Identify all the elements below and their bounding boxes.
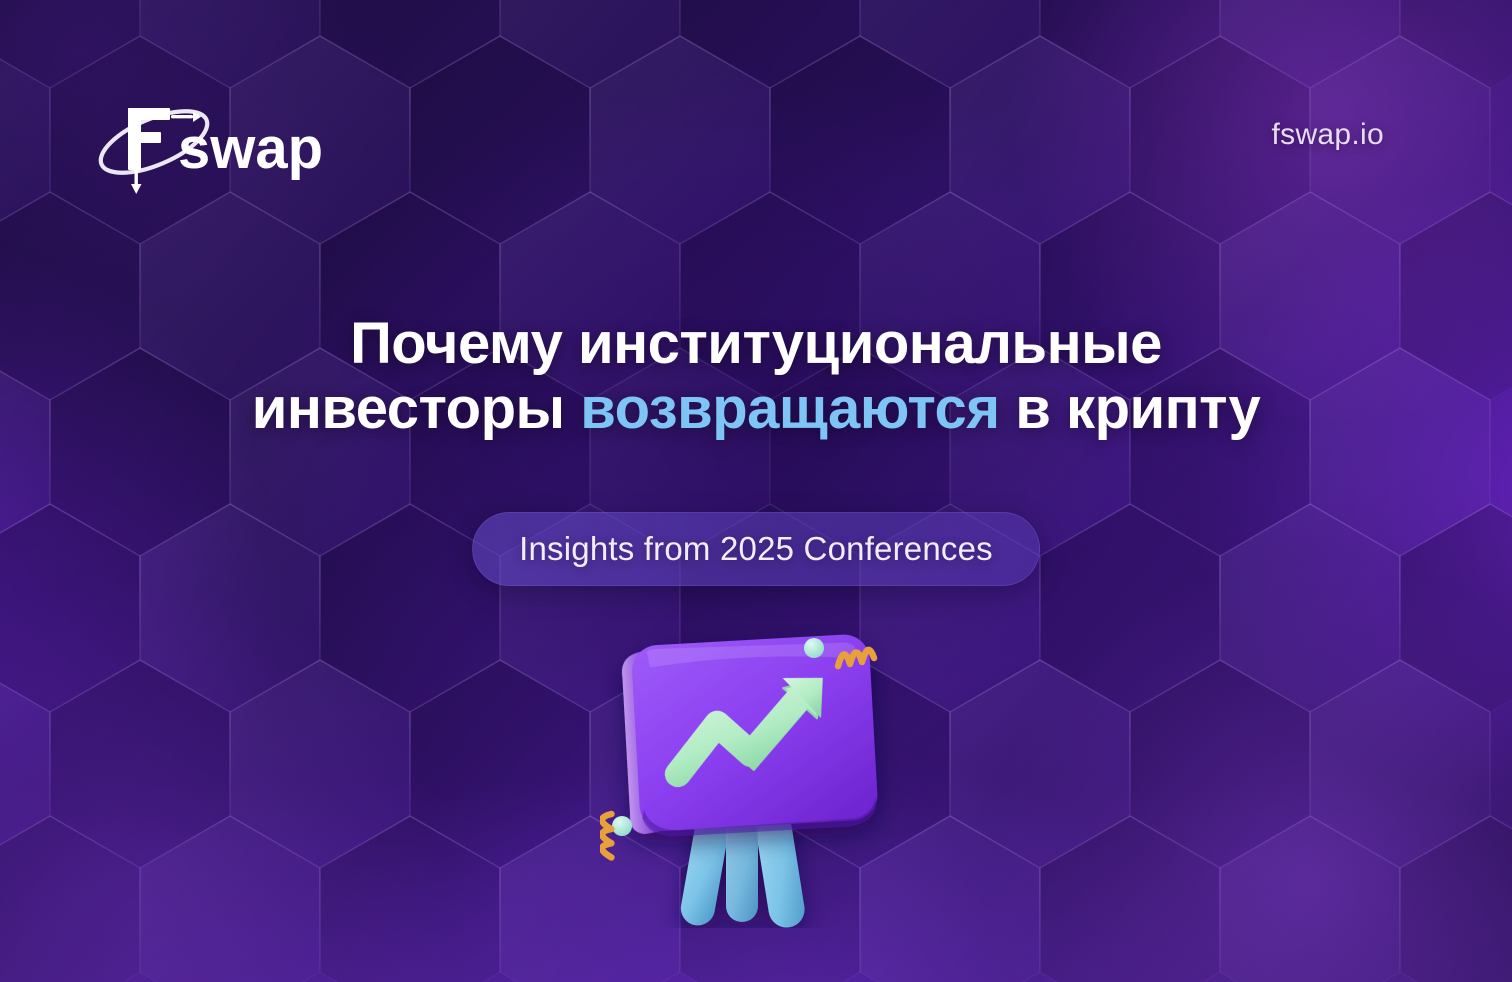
growth-chart-easel-illustration bbox=[600, 618, 930, 928]
accent-dot-left bbox=[612, 816, 632, 836]
headline-accent-word: возвращаются bbox=[580, 376, 999, 441]
headline-line-2: инвесторы возвращаются в крипту bbox=[60, 377, 1452, 442]
promo-banner: swap fswap.io Почему институциональные и… bbox=[0, 0, 1512, 982]
logo-wordmark: swap bbox=[178, 116, 322, 181]
subtitle-badge: Insights from 2025 Conferences bbox=[472, 512, 1040, 586]
headline-line-1: Почему институциональные bbox=[60, 312, 1452, 377]
site-url[interactable]: fswap.io bbox=[1272, 118, 1384, 152]
subtitle-badge-label: Insights from 2025 Conferences bbox=[519, 530, 993, 568]
subtitle-badge-wrap: Insights from 2025 Conferences bbox=[0, 512, 1512, 586]
headline-line2-prefix: инвесторы bbox=[252, 376, 580, 441]
brand-logo[interactable]: swap bbox=[92, 90, 322, 200]
accent-dot-top bbox=[804, 638, 824, 658]
bottom-right-glow bbox=[972, 562, 1512, 982]
headline-block: Почему институциональные инвесторы возвр… bbox=[0, 312, 1512, 442]
bottom-left-glow bbox=[0, 582, 460, 982]
headline-line2-suffix: в крипту bbox=[1000, 376, 1261, 441]
